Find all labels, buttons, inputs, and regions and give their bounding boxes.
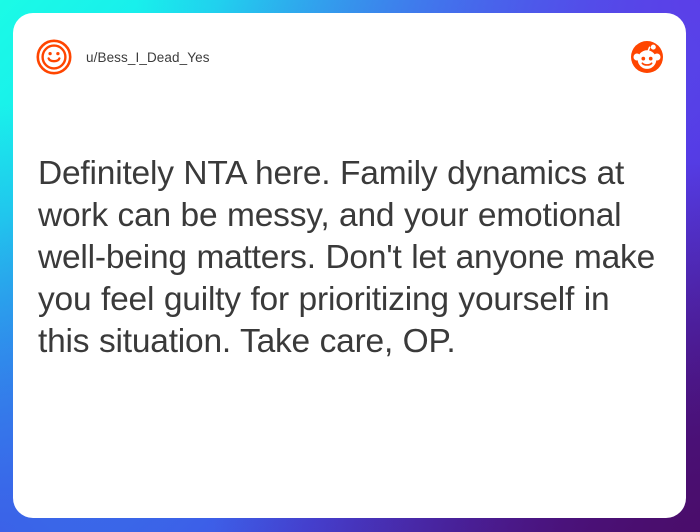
- smiley-face-icon: [36, 39, 72, 75]
- card-header: u/Bess_I_Dead_Yes: [13, 13, 686, 101]
- comment-card: u/Bess_I_Dead_Yes Definitely NTA here. F…: [13, 13, 686, 518]
- username-label: u/Bess_I_Dead_Yes: [86, 50, 210, 65]
- reddit-comment-card-page: { "background": { "gradient_stops": ["#1…: [0, 0, 700, 532]
- reddit-snoo-icon[interactable]: [630, 40, 664, 74]
- comment-text: Definitely NTA here. Family dynamics at …: [38, 153, 661, 363]
